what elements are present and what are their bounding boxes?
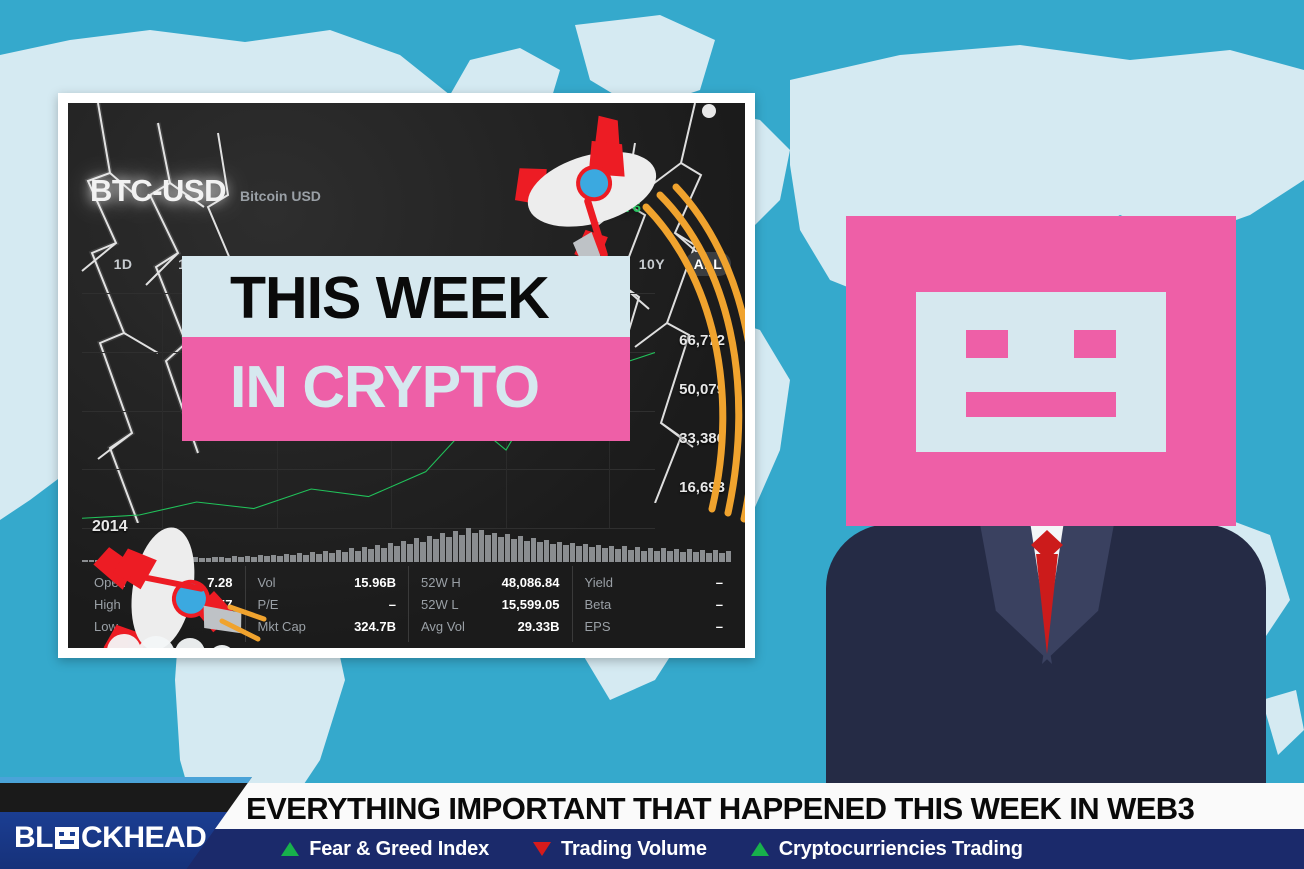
volume-bar <box>362 547 368 562</box>
volume-bar <box>511 539 517 562</box>
volume-bar <box>336 550 342 562</box>
stat-key: Beta <box>585 597 612 612</box>
blockhead-character <box>846 216 1266 801</box>
volume-bar <box>381 548 387 562</box>
volume-bar <box>388 543 394 562</box>
stat-value: – <box>716 597 723 612</box>
volume-bar <box>446 537 452 562</box>
volume-bar <box>394 546 400 562</box>
ticker-item[interactable]: Cryptocurriencies Trading <box>751 838 1023 861</box>
stat-row: Beta– <box>585 597 724 612</box>
volume-bar <box>498 537 504 562</box>
chart-heading: BTC-USD Bitcoin USD <box>90 173 321 209</box>
volume-bar <box>342 552 348 562</box>
volume-bar <box>368 549 374 562</box>
arrow-up-icon <box>751 842 769 856</box>
volume-bar <box>518 536 524 562</box>
ticker-item[interactable]: Trading Volume <box>533 838 707 861</box>
block-head <box>846 216 1236 526</box>
volume-bar <box>466 528 472 562</box>
ticker-symbol: BTC-USD <box>90 173 226 209</box>
logo-face-icon <box>55 827 79 849</box>
range-button-1d[interactable]: 1D <box>90 256 156 272</box>
volume-bar <box>440 533 446 562</box>
ticker-name: Bitcoin USD <box>240 188 321 209</box>
title-overlay: THIS WEEK IN CRYPTO <box>182 256 630 441</box>
volume-bar <box>531 538 537 562</box>
headline-text: EVERYTHING IMPORTANT THAT HAPPENED THIS … <box>246 791 1290 827</box>
stat-row: 52W H48,086.84 <box>421 575 560 590</box>
logo-accent-bar <box>0 777 252 783</box>
logo-text-after: CKHEAD <box>81 821 206 855</box>
eye-left-icon <box>966 330 1008 358</box>
title-line-2: IN CRYPTO <box>182 337 630 442</box>
volume-bar <box>427 536 433 562</box>
volume-bar <box>401 541 407 562</box>
volume-bar <box>550 544 556 562</box>
stat-value: 324.7B <box>354 619 396 634</box>
volume-bar <box>303 555 309 562</box>
stats-column: 52W H48,086.8452W L15,599.05Avg Vol29.33… <box>408 566 572 642</box>
volume-bar <box>492 533 498 562</box>
logo-text: BL CKHEAD <box>14 821 206 855</box>
bottom-banner: EVERYTHING IMPORTANT THAT HAPPENED THIS … <box>0 777 1304 869</box>
stat-row: 52W L15,599.05 <box>421 597 560 612</box>
volume-bar <box>316 554 322 562</box>
stat-value: – <box>389 597 396 612</box>
volume-bar <box>537 542 543 562</box>
stat-value: 29.33B <box>518 619 560 634</box>
stat-value: 48,086.84 <box>502 575 560 590</box>
volume-bar <box>323 551 329 562</box>
ticker-item-label: Trading Volume <box>561 838 707 861</box>
stat-key: EPS <box>585 619 611 634</box>
stat-key: Avg Vol <box>421 619 465 634</box>
ticker-item[interactable]: Fear & Greed Index <box>281 838 489 861</box>
volume-bar <box>576 546 582 562</box>
face-panel <box>916 292 1166 452</box>
volume-bar <box>479 530 485 562</box>
volume-bar <box>524 541 530 562</box>
volume-bar <box>557 542 563 562</box>
stat-row: EPS– <box>585 619 724 634</box>
volume-bar <box>310 552 316 562</box>
ticker-item-label: Cryptocurriencies Trading <box>779 838 1023 861</box>
stat-key: 52W L <box>421 597 459 612</box>
volume-bar <box>485 535 491 562</box>
mouth-icon <box>966 392 1116 417</box>
ticker-item-label: Fear & Greed Index <box>309 838 489 861</box>
logo-text-before: BL <box>14 821 53 855</box>
volume-bar <box>355 551 361 562</box>
stat-key: 52W H <box>421 575 461 590</box>
stat-value: 15.96B <box>354 575 396 590</box>
arrow-up-icon <box>281 842 299 856</box>
volume-bar <box>375 545 381 562</box>
stage: BTC-USD Bitcoin USD 1D1W1M3M6M1Y2Y5Y10YA… <box>0 0 1304 869</box>
volume-bar <box>453 531 459 562</box>
stat-row: Avg Vol29.33B <box>421 619 560 634</box>
volume-bar <box>407 544 413 562</box>
volume-bar <box>349 548 355 562</box>
title-line-1: THIS WEEK <box>182 256 630 337</box>
character-body <box>814 516 1284 806</box>
volume-bar <box>329 553 335 562</box>
volume-bar <box>544 540 550 562</box>
arrow-down-icon <box>533 842 551 856</box>
volume-bar <box>459 535 465 562</box>
volume-bar <box>420 542 426 562</box>
volume-bar <box>505 534 511 562</box>
stat-value: 15,599.05 <box>502 597 560 612</box>
volume-bar <box>570 543 576 562</box>
volume-bar <box>414 538 420 562</box>
volume-bar <box>472 533 478 562</box>
eye-right-icon <box>1074 330 1116 358</box>
stat-value: – <box>716 619 723 634</box>
volume-bar <box>433 539 439 562</box>
rocket-icon-bottom <box>72 503 302 648</box>
volume-bar <box>563 545 569 562</box>
